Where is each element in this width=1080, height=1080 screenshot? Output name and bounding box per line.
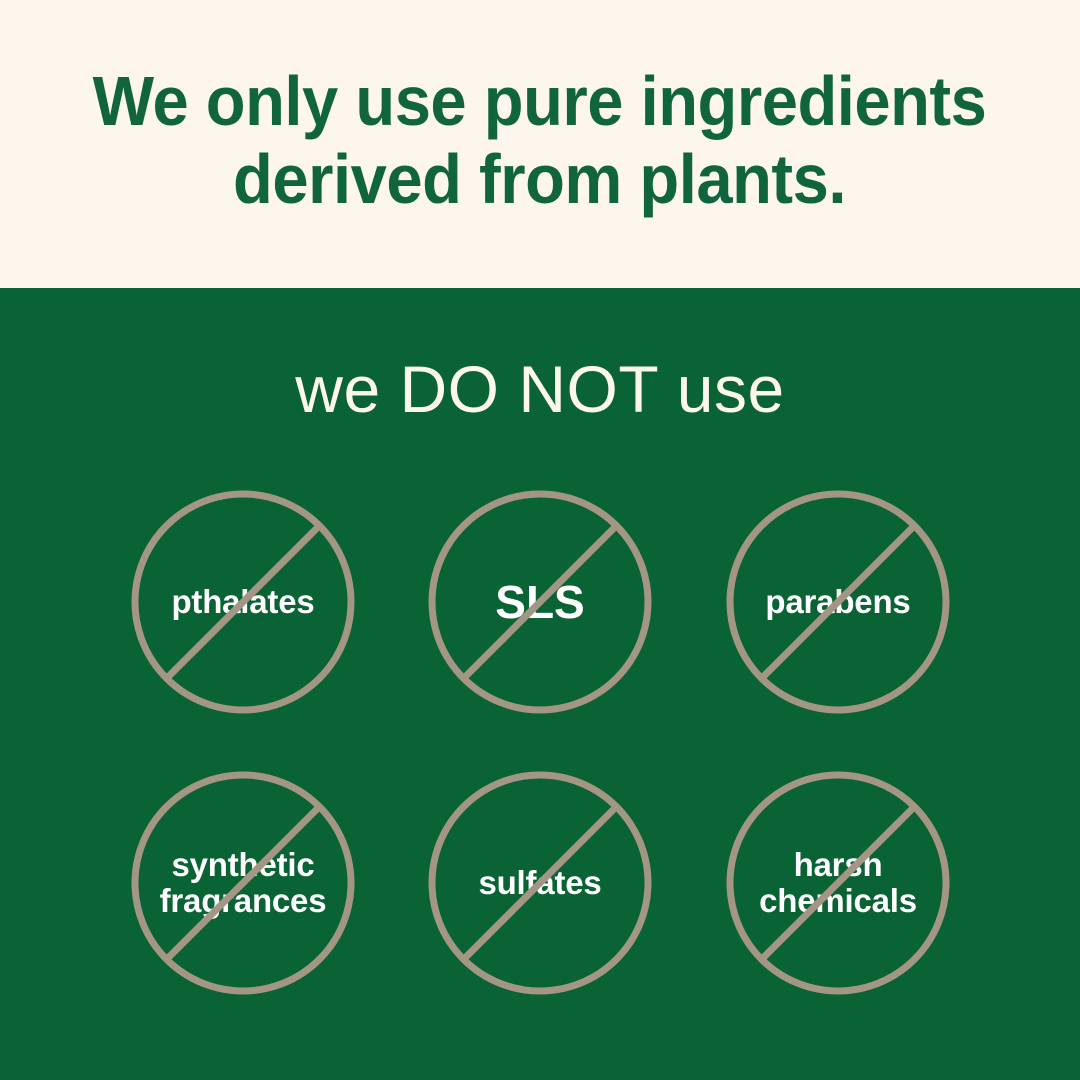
badge-parabens: parabens xyxy=(725,489,951,715)
badge-label: harsh chemicals xyxy=(703,770,973,996)
badge-label-line: harsh xyxy=(794,847,883,883)
page-title: We only use pure ingredients derived fro… xyxy=(93,62,987,219)
badge-label: SLS xyxy=(405,489,675,715)
badge-label-line: fragrances xyxy=(160,883,327,919)
badge-label: parabens xyxy=(703,489,973,715)
section-title: we DO NOT use xyxy=(0,356,1080,422)
badge-label-line: sulfates xyxy=(478,865,601,901)
badge-label: sulfates xyxy=(405,770,675,996)
badge-sls: SLS xyxy=(427,489,653,715)
badge-pthalates: pthalates xyxy=(130,489,356,715)
badge-label-line: pthalates xyxy=(171,584,314,620)
do-not-use-section: we DO NOT use pthalates SLS xyxy=(0,288,1080,1080)
headline-banner: We only use pure ingredients derived fro… xyxy=(0,0,1080,288)
badge-sulfates: sulfates xyxy=(427,770,653,996)
badge-label-line: synthetic xyxy=(171,847,314,883)
excluded-ingredients-grid: pthalates SLS parabe xyxy=(0,489,1080,999)
badge-synthetic-fragrances: synthetic fragrances xyxy=(130,770,356,996)
badge-label-line: chemicals xyxy=(759,883,917,919)
badge-label: synthetic fragrances xyxy=(108,770,378,996)
ingredient-claims-poster: We only use pure ingredients derived fro… xyxy=(0,0,1080,1080)
badge-label-line: SLS xyxy=(495,577,584,628)
badge-harsh-chemicals: harsh chemicals xyxy=(725,770,951,996)
badge-label-line: parabens xyxy=(765,584,910,620)
badge-label: pthalates xyxy=(108,489,378,715)
